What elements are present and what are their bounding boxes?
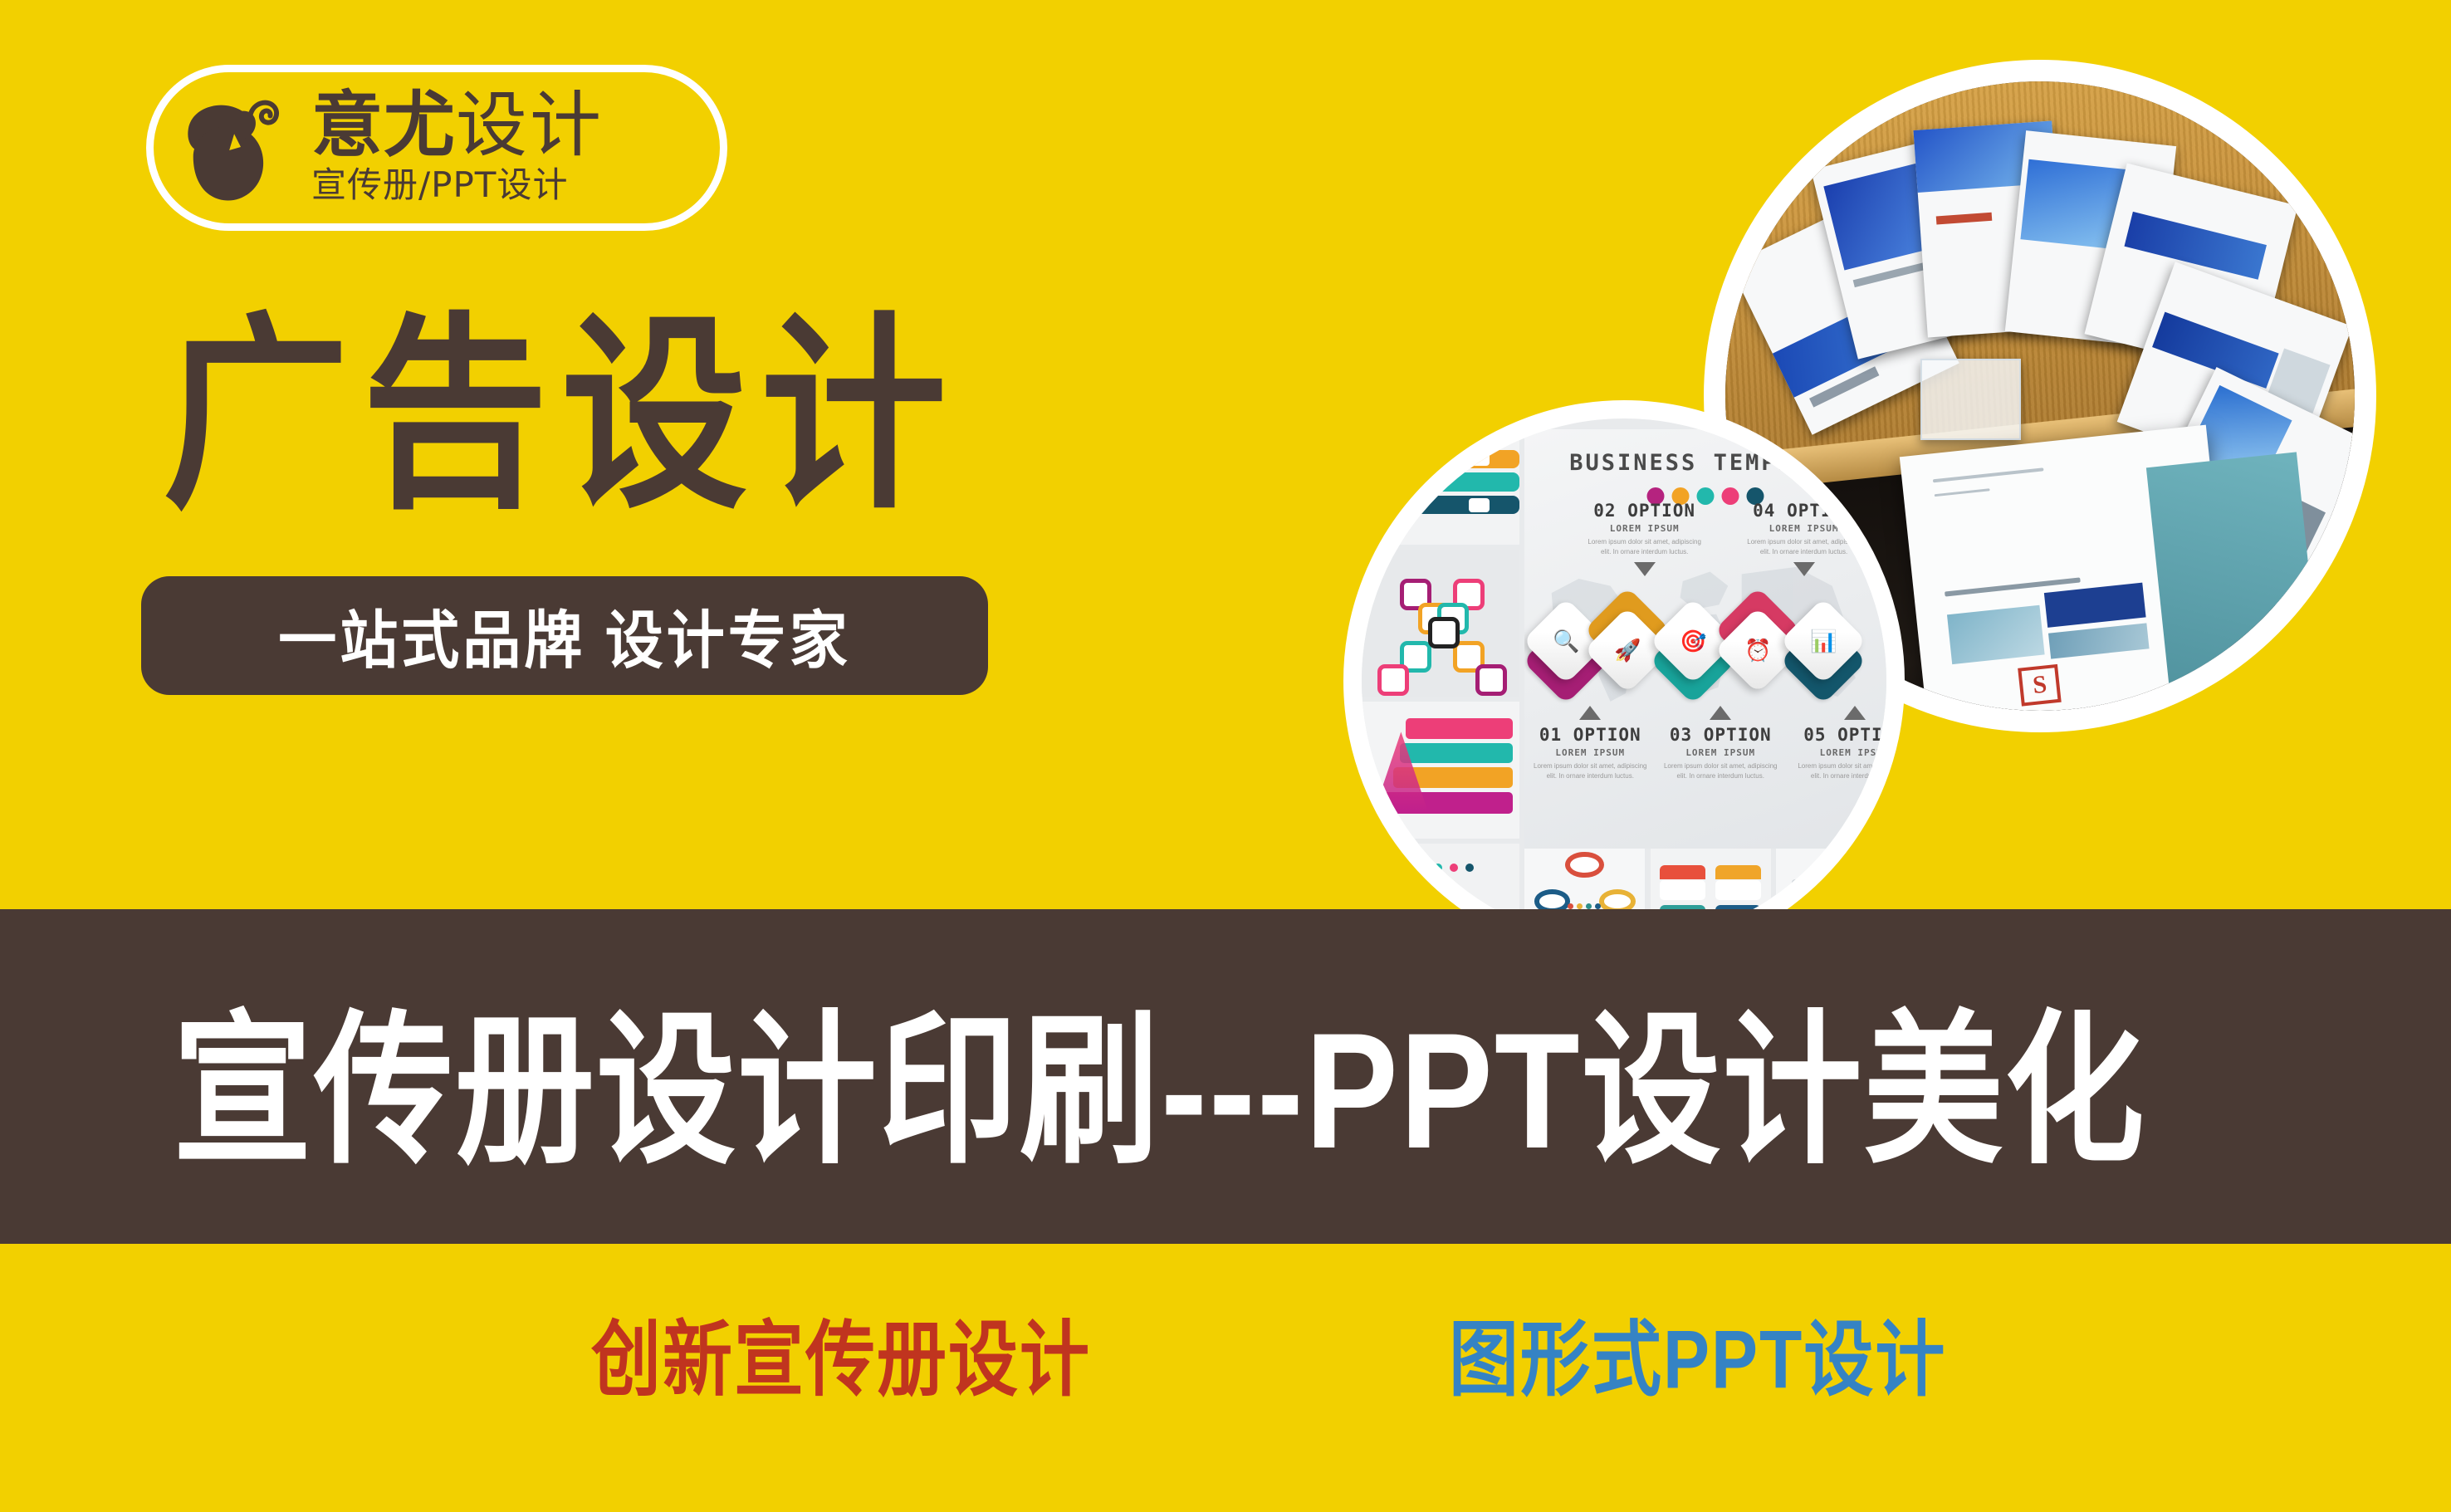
subtitle-text: 一站式品牌 设计专家 — [278, 590, 850, 681]
target-icon: 🎯 — [1679, 630, 1705, 652]
ppt-template-collage-circle: BUSINESS TEMPLATE — [1343, 400, 1905, 962]
brand-name-light: 设计 — [456, 90, 604, 161]
banner-text: 宣传册设计印刷---PPT设计美化 — [173, 957, 2146, 1196]
subtitle-pill: 一站式品牌 设计专家 — [141, 576, 988, 695]
diamond-row: 🔍 🚀 🎯 ⏰ 📊 — [1524, 580, 1886, 689]
ppt-infographic-collage: BUSINESS TEMPLATE — [1362, 418, 1886, 943]
magnifier-icon: 🔍 — [1553, 630, 1579, 652]
banner-steps-thumb — [1362, 429, 1519, 545]
main-banner: 宣传册设计印刷---PPT设计美化 — [0, 909, 2451, 1244]
main-template-slide: BUSINESS TEMPLATE — [1524, 429, 1886, 849]
chart-icon: 📊 — [1809, 630, 1836, 652]
option-04: 04 OPTION LOREM IPSUM Lorem ipsum dolor … — [1742, 501, 1866, 576]
brand-name-bold: 意尤 — [311, 90, 456, 161]
footer-tag-brochure: 创新宣传册设计 — [591, 1294, 1091, 1412]
logo-badge: 意尤 设计 宣传册/PPT设计 — [146, 65, 727, 231]
gourd-leaf-logo-icon — [177, 86, 300, 210]
footer-tag-row: 创新宣传册设计 图形式PPT设计 — [0, 1279, 2451, 1428]
brand-name: 意尤 设计 — [311, 90, 604, 161]
card-holder — [1920, 359, 2021, 441]
option-02: 02 OPTION LOREM IPSUM Lorem ipsum dolor … — [1583, 501, 1707, 576]
poster-canvas: 意尤 设计 宣传册/PPT设计 广告设计 一站式品牌 设计专家 — [0, 0, 2451, 1512]
page-title: 广告设计 — [163, 307, 960, 526]
red-seal-stamp: S — [2018, 664, 2062, 706]
cross-grid-thumb — [1362, 550, 1519, 697]
clock-icon: ⏰ — [1744, 639, 1771, 661]
logo-text-block: 意尤 设计 宣传册/PPT设计 — [311, 90, 604, 206]
brand-tagline: 宣传册/PPT设计 — [311, 168, 604, 203]
option-03: 03 OPTION LOREM IPSUM Lorem ipsum dolor … — [1658, 706, 1783, 781]
option-01: 01 OPTION LOREM IPSUM Lorem ipsum dolor … — [1528, 706, 1652, 781]
slide-title: BUSINESS TEMPLATE — [1569, 450, 1841, 476]
footer-tag-ppt: 图形式PPT设计 — [1449, 1294, 1946, 1412]
pyramid-chart-thumb — [1362, 702, 1519, 838]
rocket-icon: 🚀 — [1614, 639, 1641, 661]
option-05: 05 OPTION LOREM IPSUM Lorem ipsum dolor … — [1793, 706, 1886, 781]
